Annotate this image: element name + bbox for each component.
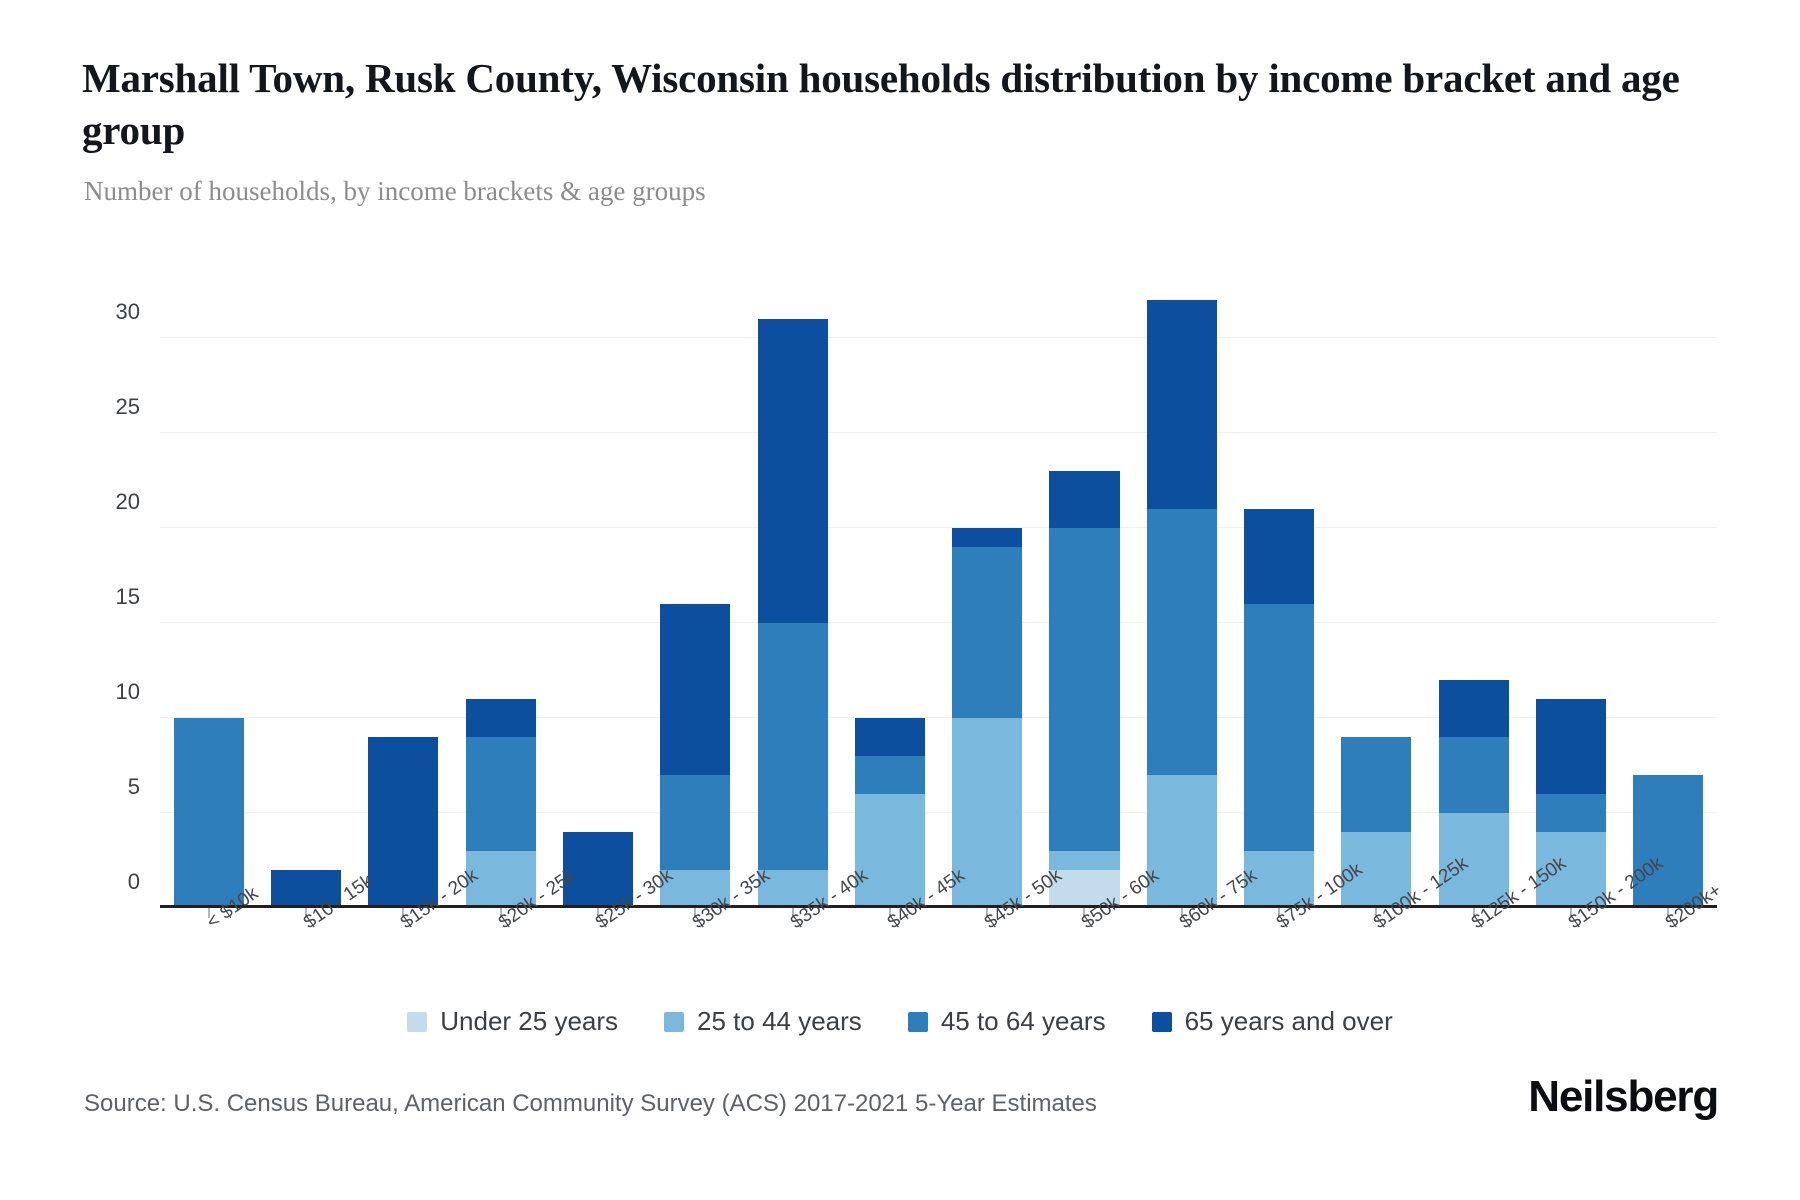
bar-segment[interactable]: [758, 319, 828, 623]
bar-group[interactable]: [647, 300, 744, 908]
bar-segment[interactable]: [466, 737, 536, 851]
bar-segment[interactable]: [1049, 471, 1119, 528]
bar-segment[interactable]: [1147, 775, 1217, 908]
bar-segment[interactable]: [660, 604, 730, 775]
bar-stack[interactable]: [174, 718, 244, 908]
legend-item[interactable]: Under 25 years: [407, 1006, 618, 1037]
bar-segment[interactable]: [1536, 794, 1606, 832]
legend-swatch-icon: [1152, 1012, 1172, 1032]
legend-swatch-icon: [664, 1012, 684, 1032]
chart-page: Marshall Town, Rusk County, Wisconsin ho…: [0, 0, 1800, 1200]
brand-logo: Neilsberg: [1528, 1072, 1718, 1122]
bar-segment[interactable]: [855, 718, 925, 756]
bar-segment[interactable]: [174, 718, 244, 908]
bar-group[interactable]: [1328, 300, 1425, 908]
bar-segment[interactable]: [660, 775, 730, 870]
legend-swatch-icon: [407, 1012, 427, 1032]
bar-stack[interactable]: [1147, 300, 1217, 908]
bar-segment[interactable]: [1147, 300, 1217, 509]
legend-label: 65 years and over: [1185, 1006, 1393, 1037]
legend-label: 25 to 44 years: [697, 1006, 862, 1037]
bar-segment[interactable]: [1341, 737, 1411, 832]
bar-group[interactable]: [1230, 300, 1327, 908]
bar-group[interactable]: [549, 300, 646, 908]
bar-segment[interactable]: [952, 528, 1022, 547]
y-axis-tick-label: 10: [116, 679, 140, 705]
bar-stack[interactable]: [660, 604, 730, 908]
bar-segment[interactable]: [368, 737, 438, 908]
bar-stack[interactable]: [1244, 509, 1314, 908]
plot-area: 051015202530: [160, 300, 1717, 908]
bar-group[interactable]: [355, 300, 452, 908]
bar-group[interactable]: [257, 300, 354, 908]
bar-series-container: [160, 300, 1717, 908]
bar-segment[interactable]: [1439, 680, 1509, 737]
y-axis-tick-label: 15: [116, 584, 140, 610]
bar-group[interactable]: [1036, 300, 1133, 908]
bar-group[interactable]: [841, 300, 938, 908]
bar-segment[interactable]: [1439, 737, 1509, 813]
bar-segment[interactable]: [855, 756, 925, 794]
page-subtitle: Number of households, by income brackets…: [84, 174, 1484, 209]
bar-segment[interactable]: [855, 794, 925, 908]
bar-group[interactable]: [939, 300, 1036, 908]
bar-segment[interactable]: [758, 623, 828, 870]
page-title: Marshall Town, Rusk County, Wisconsin ho…: [82, 52, 1702, 157]
bar-segment[interactable]: [952, 547, 1022, 718]
bar-segment[interactable]: [1244, 604, 1314, 851]
legend-item[interactable]: 45 to 64 years: [908, 1006, 1106, 1037]
bar-segment[interactable]: [1147, 509, 1217, 775]
bar-group[interactable]: [744, 300, 841, 908]
legend-label: Under 25 years: [440, 1006, 618, 1037]
y-axis-tick-label: 25: [116, 394, 140, 420]
y-axis-tick-label: 30: [116, 299, 140, 325]
bar-segment[interactable]: [1244, 509, 1314, 604]
bar-group[interactable]: [1133, 300, 1230, 908]
bar-group[interactable]: [1620, 300, 1717, 908]
legend-item[interactable]: 25 to 44 years: [664, 1006, 862, 1037]
bar-segment[interactable]: [466, 699, 536, 737]
bar-segment[interactable]: [1536, 699, 1606, 794]
legend-label: 45 to 64 years: [941, 1006, 1106, 1037]
bar-stack[interactable]: [1633, 775, 1703, 908]
bar-group[interactable]: [1425, 300, 1522, 908]
bar-group[interactable]: [452, 300, 549, 908]
bar-segment[interactable]: [1633, 775, 1703, 908]
legend-item[interactable]: 65 years and over: [1152, 1006, 1393, 1037]
y-axis-tick-label: 20: [116, 489, 140, 515]
source-note: Source: U.S. Census Bureau, American Com…: [84, 1090, 1097, 1118]
bar-group[interactable]: [1522, 300, 1619, 908]
bar-stack[interactable]: [1049, 471, 1119, 908]
bar-stack[interactable]: [952, 528, 1022, 908]
y-axis-tick-label: 5: [128, 774, 140, 800]
bar-segment[interactable]: [1049, 528, 1119, 851]
bar-stack[interactable]: [758, 319, 828, 908]
bar-group[interactable]: [160, 300, 257, 908]
legend-swatch-icon: [908, 1012, 928, 1032]
bar-segment[interactable]: [1049, 851, 1119, 870]
bar-stack[interactable]: [368, 737, 438, 908]
chart-legend: Under 25 years25 to 44 years45 to 64 yea…: [0, 1006, 1800, 1037]
y-axis-tick-label: 0: [128, 869, 140, 895]
